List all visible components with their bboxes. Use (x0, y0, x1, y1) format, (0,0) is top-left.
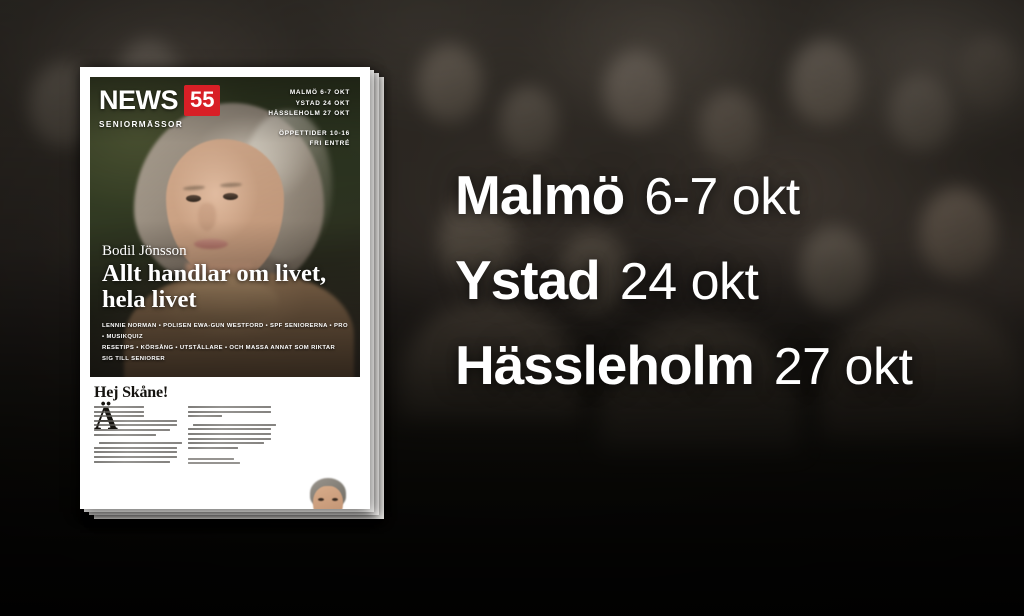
portrait-face (313, 486, 343, 509)
portrait-eye (332, 498, 338, 501)
cover-teaser-line2: RESETIPS • KÖRSÅNG • UTSTÄLLARE • OCH MA… (102, 343, 348, 365)
cover-article: Hej Skåne! Ä (94, 385, 360, 501)
article-body-text (188, 406, 274, 449)
article-column-2 (188, 406, 274, 467)
city-date-ystad: 24 okt (620, 256, 759, 308)
city-name-ystad: Ystad (455, 253, 600, 308)
masthead: NEWS 55 SENIORMÄSSOR (99, 85, 220, 129)
city-row-hassleholm: Hässleholm 27 okt (455, 338, 1015, 393)
cover-dates-block: MALMÖ 6-7 OKT YSTAD 24 OKT HÄSSLEHOLM 27… (268, 88, 350, 150)
cover-date-malmo: MALMÖ 6-7 OKT (268, 88, 350, 99)
article-title: Hej Skåne! (94, 385, 360, 401)
cover-teaser-line1: LENNIE NORMAN • POLISEN EWA-GUN WESTFORD… (102, 321, 348, 343)
masthead-subtitle: SENIORMÄSSOR (99, 120, 220, 129)
cover-story-kicker: Bodil Jönsson (102, 243, 348, 260)
promo-banner: NEWS 55 SENIORMÄSSOR MALMÖ 6-7 OKT YSTAD… (0, 0, 1024, 616)
cover-free-entry: FRI ENTRÉ (268, 139, 350, 150)
article-column-1: Ä (94, 406, 180, 467)
city-date-malmo: 6-7 okt (644, 171, 799, 223)
article-author-portrait (296, 476, 358, 509)
magazine-stack: NEWS 55 SENIORMÄSSOR MALMÖ 6-7 OKT YSTAD… (80, 67, 370, 509)
cover-date-hassleholm: HÄSSLEHOLM 27 OKT (268, 109, 350, 120)
portrait-eye (318, 498, 324, 501)
magazine-cover: NEWS 55 SENIORMÄSSOR MALMÖ 6-7 OKT YSTAD… (80, 67, 370, 509)
cover-date-ystad: YSTAD 24 OKT (268, 99, 350, 110)
cover-story-headline: Allt handlar om livet, hela livet (102, 261, 348, 312)
city-date-hassleholm: 27 okt (774, 341, 913, 393)
masthead-logo: NEWS 55 (99, 85, 220, 116)
cover-story: Bodil Jönsson Allt handlar om livet, hel… (102, 243, 348, 365)
city-name-malmo: Malmö (455, 168, 624, 223)
article-body-text (94, 406, 180, 463)
article-columns: Ä (94, 406, 360, 467)
article-signature (188, 458, 274, 464)
city-row-malmo: Malmö 6-7 okt (455, 168, 1015, 223)
masthead-brand: NEWS (99, 87, 178, 114)
cover-story-headline-line1: Allt handlar om livet, (102, 261, 348, 286)
cover-photo: NEWS 55 SENIORMÄSSOR MALMÖ 6-7 OKT YSTAD… (90, 77, 360, 377)
cover-story-headline-line2: hela livet (102, 287, 348, 312)
masthead-number-badge: 55 (184, 85, 220, 116)
city-date-list: Malmö 6-7 okt Ystad 24 okt Hässleholm 27… (455, 168, 1015, 393)
cover-opening-hours: ÖPPETTIDER 10-16 (268, 129, 350, 140)
city-name-hassleholm: Hässleholm (455, 338, 754, 393)
cover-teaser: LENNIE NORMAN • POLISEN EWA-GUN WESTFORD… (102, 321, 348, 365)
city-row-ystad: Ystad 24 okt (455, 253, 1015, 308)
